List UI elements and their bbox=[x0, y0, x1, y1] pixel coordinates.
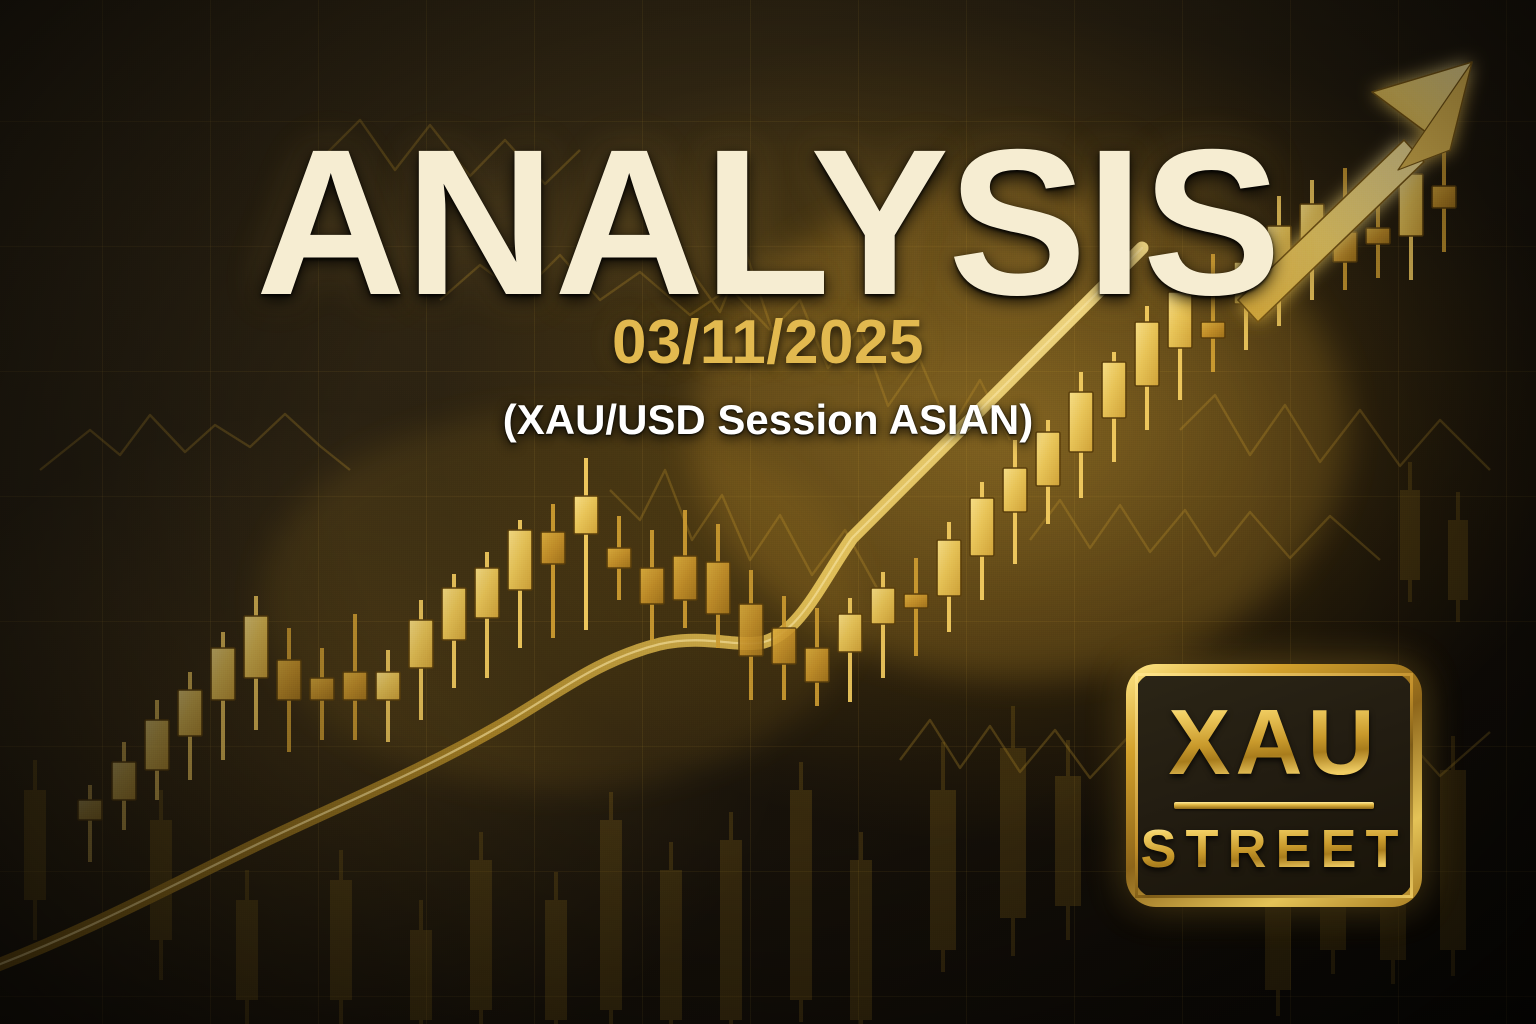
xau-street-logo[interactable]: XAU STREET bbox=[1126, 664, 1422, 907]
instrument-session-label: (XAU/USD Session ASIAN) bbox=[0, 396, 1536, 444]
logo-divider bbox=[1174, 802, 1374, 809]
page-title: ANALYSIS bbox=[0, 128, 1536, 319]
analysis-date: 03/11/2025 bbox=[0, 307, 1536, 378]
logo-xau-text: XAU bbox=[1168, 696, 1379, 789]
poster-canvas: ANALYSIS 03/11/2025 (XAU/USD Session ASI… bbox=[0, 0, 1536, 1024]
logo-inner-frame: XAU STREET bbox=[1135, 673, 1413, 898]
logo-street-text: STREET bbox=[1140, 822, 1407, 876]
